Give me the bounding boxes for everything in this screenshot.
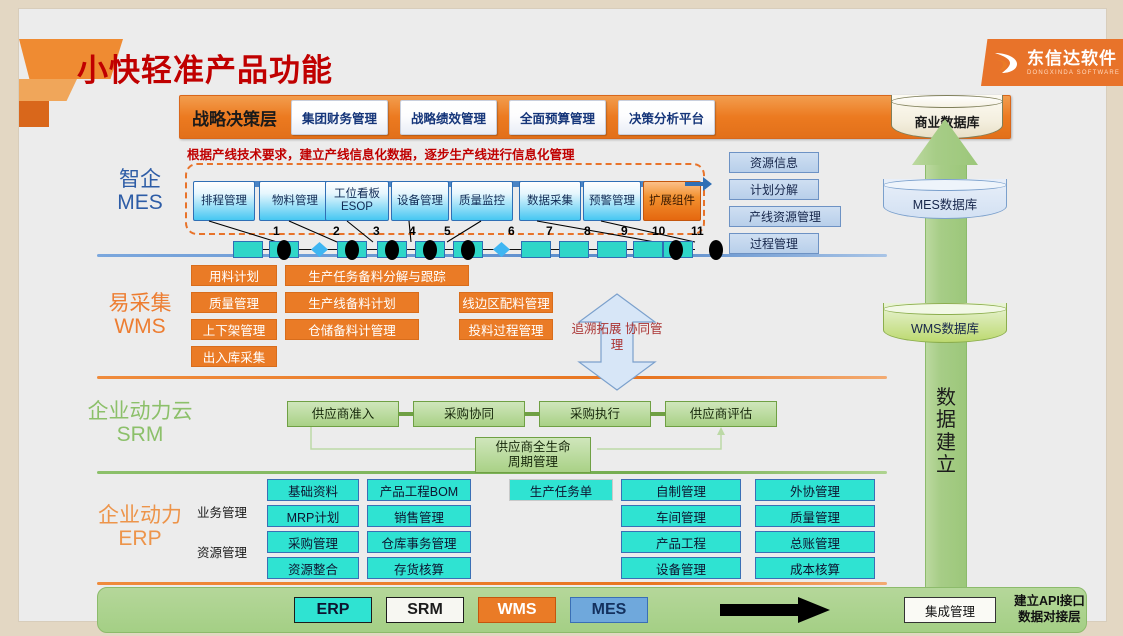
timeline-marker-oval xyxy=(385,240,399,260)
logo-name-cn: 东信达软件 xyxy=(1027,50,1120,67)
timeline-marker-oval xyxy=(423,240,437,260)
mes-info-resource[interactable]: 资源信息 xyxy=(729,152,819,173)
srm-box-supplier-lifecycle[interactable]: 供应商全生命 周期管理 xyxy=(475,437,591,473)
divider-erp xyxy=(97,582,887,585)
section-label-wms: 易采集 WMS xyxy=(81,293,199,338)
data-arrow-head-icon xyxy=(912,119,978,165)
production-line-timeline xyxy=(233,241,695,259)
logo-name-en: DONGXINDA SOFTWARE xyxy=(1027,70,1120,76)
wms-box-quality[interactable]: 质量管理 xyxy=(191,292,277,313)
timeline-marker-oval xyxy=(669,240,683,260)
integration-flow-arrow-icon xyxy=(720,597,830,623)
strategy-button-budget[interactable]: 全面预算管理 xyxy=(509,100,606,135)
section-label-srm-en: SRM xyxy=(69,424,211,447)
wms-box-task-material-split[interactable]: 生产任务备料分解与跟踪 xyxy=(285,265,469,286)
slide-content-frame: 小快轻准产品功能 东信达软件 DONGXINDA SOFTWARE 战略决策层 … xyxy=(18,8,1107,622)
wms-box-shelving[interactable]: 上下架管理 xyxy=(191,319,277,340)
integration-bottom-bar: ERP SRM WMS MES 集成管理 建立API接口 数据对接层 xyxy=(97,587,1087,633)
strategy-button-performance[interactable]: 战略绩效管理 xyxy=(400,100,497,135)
traceability-arrow-text: 追溯拓展 协同管理 xyxy=(567,322,667,353)
timeline-node-rect xyxy=(633,241,663,258)
data-arrow-label: 数 据 建 立 xyxy=(926,387,966,477)
section-label-srm: 企业动力云 SRM xyxy=(69,401,211,446)
erp-box-product-bom[interactable]: 产品工程BOM xyxy=(367,479,471,501)
mes-module-alert[interactable]: 预警管理 xyxy=(583,181,641,221)
erp-label-business: 业务管理 xyxy=(197,502,247,521)
erp-box-resource-integration[interactable]: 资源整合 xyxy=(267,557,359,579)
timeline-node-rect xyxy=(597,241,627,258)
erp-box-cost-accounting[interactable]: 成本核算 xyxy=(755,557,875,579)
divider-wms xyxy=(97,376,887,379)
erp-box-production-order[interactable]: 生产任务单 xyxy=(509,479,613,501)
erp-box-sales[interactable]: 销售管理 xyxy=(367,505,471,527)
cylinder-top-ellipse xyxy=(883,303,1007,315)
section-label-mes-en: MES xyxy=(81,192,199,215)
page-title: 小快轻准产品功能 xyxy=(77,45,333,90)
section-label-wms-cn: 易采集 xyxy=(81,293,199,316)
srm-box-supplier-entry[interactable]: 供应商准入 xyxy=(287,401,399,427)
mes-info-plan-breakdown[interactable]: 计划分解 xyxy=(729,179,819,200)
erp-box-general-ledger[interactable]: 总账管理 xyxy=(755,531,875,553)
srm-link-3 xyxy=(651,412,665,416)
api-layer-text: 建立API接口 数据对接层 xyxy=(1014,594,1085,625)
data-arrow-char-3: 建 xyxy=(926,432,966,454)
timeline-marker-oval xyxy=(277,240,291,260)
section-label-mes: 智企 MES xyxy=(81,169,199,214)
tag-erp[interactable]: ERP xyxy=(294,597,372,623)
wms-box-line-material-plan[interactable]: 生产线备料计划 xyxy=(285,292,419,313)
srm-lifecycle-line1: 供应商全生命 xyxy=(495,440,570,455)
mes-note-text: 根据产线技术要求，建立产线信息化数据，逐步生产线进行信息化管理 xyxy=(187,144,575,163)
decor-ribbon-mid xyxy=(19,79,77,101)
mes-module-esop[interactable]: 工位看板 ESOP xyxy=(325,181,389,221)
section-label-srm-cn: 企业动力云 xyxy=(69,401,211,424)
erp-box-workshop[interactable]: 车间管理 xyxy=(621,505,741,527)
srm-lifecycle-line2: 周期管理 xyxy=(508,455,558,470)
srm-link-1 xyxy=(399,412,413,416)
srm-link-2 xyxy=(525,412,539,416)
mes-flow-arrow-icon xyxy=(685,176,713,192)
section-label-erp-cn: 企业动力 xyxy=(75,505,205,528)
section-label-wms-en: WMS xyxy=(81,316,199,339)
api-text-line1: 建立API接口 xyxy=(1014,594,1085,610)
erp-box-outsourcing[interactable]: 外协管理 xyxy=(755,479,875,501)
timeline-node-rect xyxy=(521,241,551,258)
erp-box-purchase[interactable]: 采购管理 xyxy=(267,531,359,553)
cylinder-top-ellipse xyxy=(891,95,1003,108)
data-arrow-char-1: 数 xyxy=(926,387,966,409)
erp-label-resource: 资源管理 xyxy=(197,542,247,561)
erp-box-quality[interactable]: 质量管理 xyxy=(755,505,875,527)
srm-box-supplier-eval[interactable]: 供应商评估 xyxy=(665,401,777,427)
wms-box-material-plan[interactable]: 用料计划 xyxy=(191,265,277,286)
wms-box-line-side-batching[interactable]: 线边区配料管理 xyxy=(459,292,553,313)
decor-ribbon-bottom xyxy=(19,101,49,127)
company-logo: 东信达软件 DONGXINDA SOFTWARE xyxy=(981,39,1123,86)
traceability-double-arrow: 追溯拓展 协同管理 xyxy=(567,292,667,392)
erp-box-mrp[interactable]: MRP计划 xyxy=(267,505,359,527)
tag-wms[interactable]: WMS xyxy=(478,597,556,623)
erp-box-basic-data[interactable]: 基础资料 xyxy=(267,479,359,501)
section-label-mes-cn: 智企 xyxy=(81,169,199,192)
timeline-node-diamond xyxy=(493,242,510,257)
tag-mes[interactable]: MES xyxy=(570,597,648,623)
srm-box-purchase-collab[interactable]: 采购协同 xyxy=(413,401,525,427)
section-label-erp: 企业动力 ERP xyxy=(75,505,205,550)
integration-management-box[interactable]: 集成管理 xyxy=(904,597,996,623)
wms-database-cylinder: WMS数据库 xyxy=(883,303,1007,343)
slide-canvas: 小快轻准产品功能 东信达软件 DONGXINDA SOFTWARE 战略决策层 … xyxy=(0,0,1123,636)
mes-module-material[interactable]: 物料管理 xyxy=(259,181,331,221)
mes-database-cylinder: MES数据库 xyxy=(883,179,1007,219)
erp-box-inventory-accounting[interactable]: 存货核算 xyxy=(367,557,471,579)
api-text-line2: 数据对接层 xyxy=(1014,610,1085,626)
data-arrow-char-2: 据 xyxy=(926,409,966,431)
strategy-bar-label: 战略决策层 xyxy=(192,105,277,130)
mes-info-line-resource[interactable]: 产线资源管理 xyxy=(729,206,841,227)
srm-box-purchase-exec[interactable]: 采购执行 xyxy=(539,401,651,427)
mes-module-equipment[interactable]: 设备管理 xyxy=(391,181,449,221)
strategy-button-finance[interactable]: 集团财务管理 xyxy=(291,100,388,135)
logo-mark-icon xyxy=(991,48,1021,78)
mes-info-process[interactable]: 过程管理 xyxy=(729,233,819,254)
timeline-node-rect xyxy=(559,241,589,258)
cylinder-top-ellipse xyxy=(883,179,1007,191)
data-arrow-shaft xyxy=(925,161,967,609)
timeline-node-rect xyxy=(233,241,263,258)
data-arrow-char-4: 立 xyxy=(926,454,966,476)
mes-module-esop-line2: ESOP xyxy=(341,201,373,214)
erp-box-equipment[interactable]: 设备管理 xyxy=(621,557,741,579)
wms-box-storage-material[interactable]: 仓储备料计管理 xyxy=(285,319,419,340)
wms-box-feeding-process[interactable]: 投料过程管理 xyxy=(459,319,553,340)
timeline-marker-oval xyxy=(345,240,359,260)
erp-box-self-manufacture[interactable]: 自制管理 xyxy=(621,479,741,501)
mes-module-esop-line1: 工位看板 xyxy=(334,188,380,201)
timeline-node-diamond xyxy=(311,242,328,257)
timeline-marker-oval xyxy=(461,240,475,260)
erp-box-product-engineering[interactable]: 产品工程 xyxy=(621,531,741,553)
mes-module-scheduling[interactable]: 排程管理 xyxy=(193,181,255,221)
strategy-decision-bar: 战略决策层 集团财务管理 战略绩效管理 全面预算管理 决策分析平台 xyxy=(179,95,1011,139)
timeline-marker-oval xyxy=(709,240,723,260)
wms-box-inout-collect[interactable]: 出入库采集 xyxy=(191,346,277,367)
traceability-line1: 追溯拓展 xyxy=(571,322,621,336)
mes-module-data-collect[interactable]: 数据采集 xyxy=(519,181,581,221)
mes-module-quality[interactable]: 质量监控 xyxy=(451,181,513,221)
erp-box-warehouse-affairs[interactable]: 仓库事务管理 xyxy=(367,531,471,553)
section-label-erp-en: ERP xyxy=(75,528,205,551)
tag-srm[interactable]: SRM xyxy=(386,597,464,623)
strategy-button-analytics[interactable]: 决策分析平台 xyxy=(618,100,715,135)
